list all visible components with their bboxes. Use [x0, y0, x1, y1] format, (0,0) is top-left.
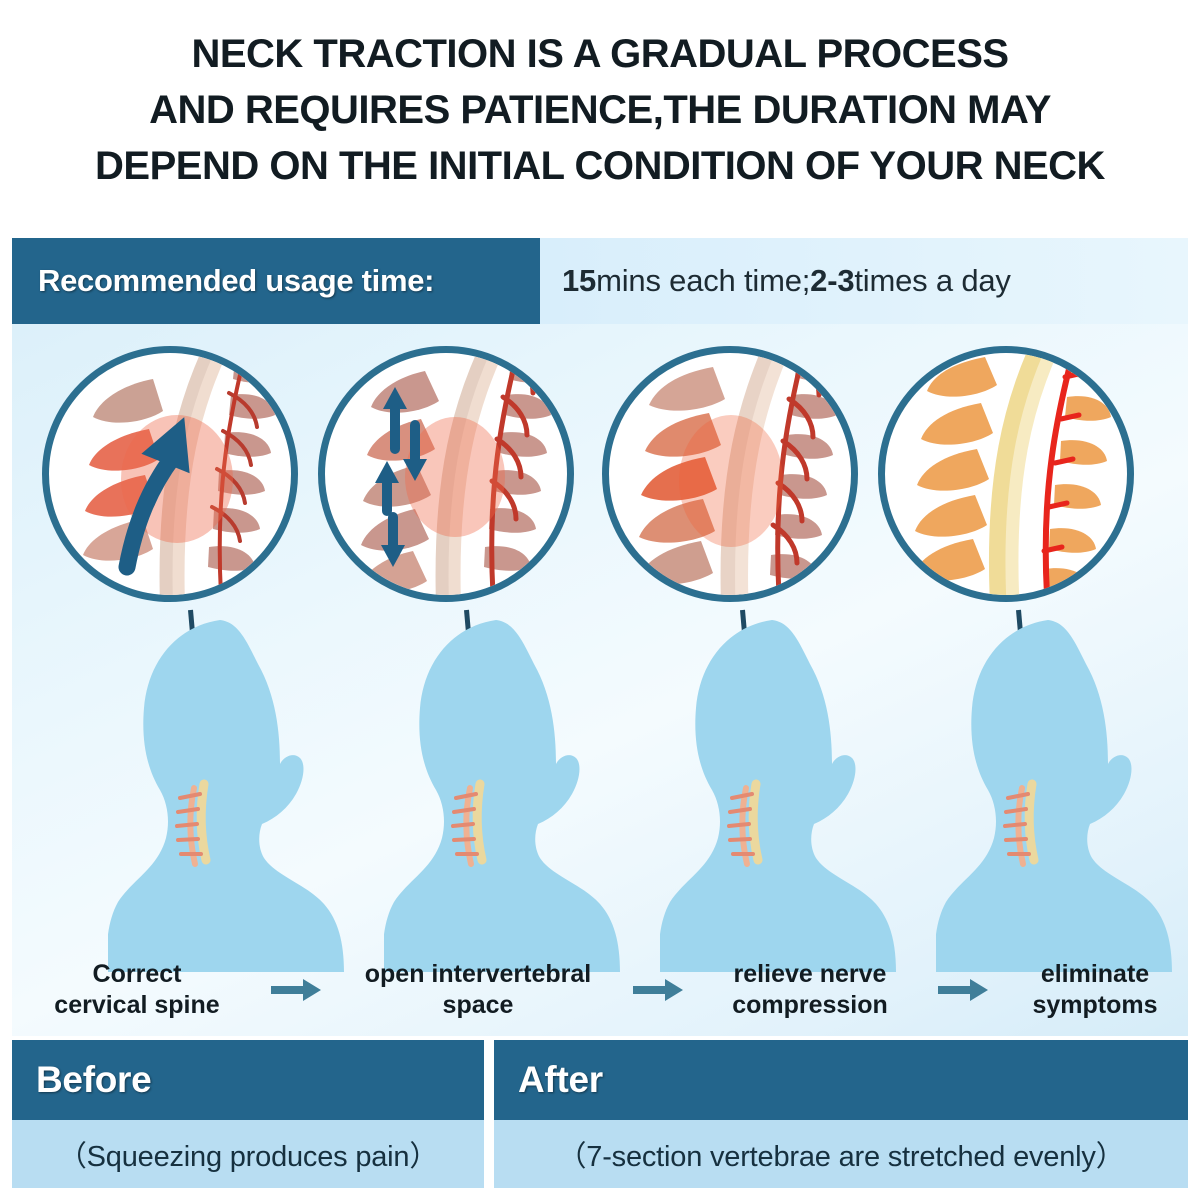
step-2-line-2: space	[332, 990, 624, 1021]
head-silhouette-1	[108, 612, 368, 972]
after-heading: After	[518, 1059, 603, 1101]
before-after-section: Before （Squeezing produces pain） After （…	[12, 1040, 1188, 1188]
diagram-circle-4	[878, 346, 1134, 602]
step-1-line-1: Correct	[12, 959, 262, 990]
before-caption-box: （Squeezing produces pain）	[12, 1120, 484, 1188]
duration-value: 15	[562, 263, 596, 299]
title-line-2: AND REQUIRES PATIENCE,THE DURATION MAY	[0, 82, 1200, 138]
usage-time-value-box: 15mins each time; 2-3 times a day	[540, 238, 1188, 324]
before-caption: （Squeezing produces pain）	[58, 1133, 438, 1175]
step-1-line-2: cervical spine	[12, 990, 262, 1021]
title-line-1: NECK TRACTION IS A GRADUAL PROCESS	[0, 26, 1200, 82]
step-3-line-2: compression	[694, 990, 926, 1021]
after-panel: After （7-section vertebrae are stretched…	[494, 1040, 1188, 1188]
infographic-page: NECK TRACTION IS A GRADUAL PROCESS AND R…	[0, 0, 1200, 1200]
head-silhouette-3	[660, 612, 920, 972]
after-heading-box: After	[494, 1040, 1188, 1120]
step-4: eliminate symptoms	[1002, 959, 1188, 1021]
step-4-line-2: symptoms	[1002, 990, 1188, 1021]
before-heading-box: Before	[12, 1040, 484, 1120]
usage-time-label-box: Recommended usage time:	[12, 238, 540, 324]
title-line-3: DEPEND ON THE INITIAL CONDITION OF YOUR …	[0, 138, 1200, 194]
step-3: relieve nerve compression	[694, 959, 926, 1021]
diagram-circle-2	[318, 346, 574, 602]
after-caption-box: （7-section vertebrae are stretched evenl…	[494, 1120, 1188, 1188]
usage-time-banner: Recommended usage time: 15mins each time…	[12, 238, 1188, 324]
process-steps: Correct cervical spine open intervertebr…	[12, 944, 1188, 1036]
before-panel: Before （Squeezing produces pain）	[12, 1040, 484, 1188]
step-arrow-3	[926, 977, 1002, 1003]
page-title: NECK TRACTION IS A GRADUAL PROCESS AND R…	[0, 26, 1200, 194]
step-2-line-1: open intervertebral	[332, 959, 624, 990]
head-silhouette-2	[384, 612, 644, 972]
duration-unit: mins each time;	[596, 263, 810, 299]
head-silhouette-4	[936, 612, 1188, 972]
step-arrow-2	[624, 977, 694, 1003]
step-arrow-1	[262, 977, 332, 1003]
before-heading: Before	[36, 1059, 151, 1101]
after-caption: （7-section vertebrae are stretched evenl…	[557, 1133, 1124, 1175]
step-3-line-1: relieve nerve	[694, 959, 926, 990]
usage-time-label: Recommended usage time:	[38, 263, 434, 299]
frequency-unit: times a day	[854, 263, 1010, 299]
frequency-value: 2-3	[810, 263, 854, 299]
diagram-circle-3	[602, 346, 858, 602]
diagram-circle-1	[42, 346, 298, 602]
step-4-line-1: eliminate	[1002, 959, 1188, 990]
step-1: Correct cervical spine	[12, 959, 262, 1021]
step-2: open intervertebral space	[332, 959, 624, 1021]
illustration-panel	[12, 324, 1188, 1036]
